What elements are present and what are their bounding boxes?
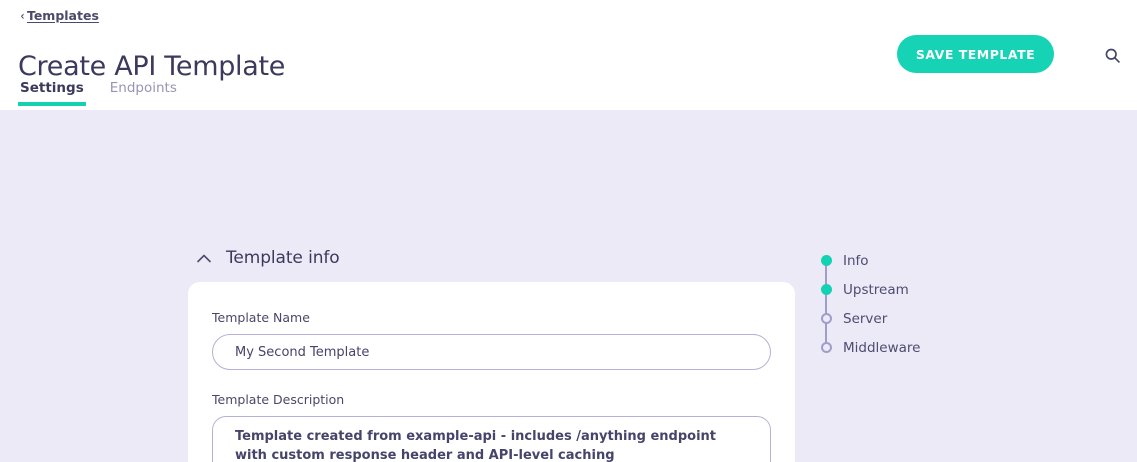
breadcrumb-label: Templates — [27, 8, 99, 23]
stepper-dot-col — [820, 275, 832, 304]
stepper-dot-todo-icon — [821, 342, 832, 353]
page-header: ‹ Templates Create API Template Settings… — [0, 0, 1137, 110]
stepper-label-info: Info — [843, 253, 869, 269]
stepper-dot-col — [820, 246, 832, 275]
stepper-label-server: Server — [843, 311, 887, 327]
stepper-dot-done-icon — [821, 255, 832, 266]
template-name-input[interactable] — [212, 334, 771, 370]
stepper-dot-done-icon — [821, 284, 832, 295]
tab-settings[interactable]: Settings — [18, 80, 86, 106]
template-name-label: Template Name — [212, 310, 771, 325]
stepper-dot-col — [820, 333, 832, 362]
stepper-item-server[interactable]: Server — [820, 304, 920, 333]
stepper-item-info[interactable]: Info — [820, 246, 920, 275]
stepper-item-middleware[interactable]: Middleware — [820, 333, 920, 362]
search-icon — [1104, 47, 1121, 64]
page-title: Create API Template — [18, 51, 285, 82]
tab-endpoints-label: Endpoints — [110, 80, 177, 96]
template-description-textarea[interactable] — [212, 416, 771, 462]
section-header-template-info[interactable]: Template info — [196, 248, 340, 268]
content-area: Template info Template Name Template Des… — [0, 110, 1137, 462]
chevron-up-icon — [196, 250, 212, 266]
breadcrumb-templates-link[interactable]: ‹ Templates — [20, 8, 99, 23]
section-title-template-info: Template info — [226, 248, 340, 268]
template-description-label: Template Description — [212, 392, 771, 407]
tab-bar: Settings Endpoints — [18, 80, 179, 106]
stepper-label-upstream: Upstream — [843, 282, 909, 298]
tab-endpoints[interactable]: Endpoints — [108, 80, 179, 106]
stepper-dot-todo-icon — [821, 313, 832, 324]
progress-stepper: Info Upstream Server Middleware — [820, 246, 920, 362]
stepper-label-middleware: Middleware — [843, 340, 920, 356]
stepper-item-upstream[interactable]: Upstream — [820, 275, 920, 304]
search-button[interactable] — [1099, 42, 1125, 68]
stepper-dot-col — [820, 304, 832, 333]
template-info-card: Template Name Template Description — [188, 282, 795, 462]
save-template-button[interactable]: SAVE TEMPLATE — [897, 35, 1054, 73]
chevron-left-icon: ‹ — [20, 10, 24, 22]
tab-settings-label: Settings — [20, 80, 84, 96]
